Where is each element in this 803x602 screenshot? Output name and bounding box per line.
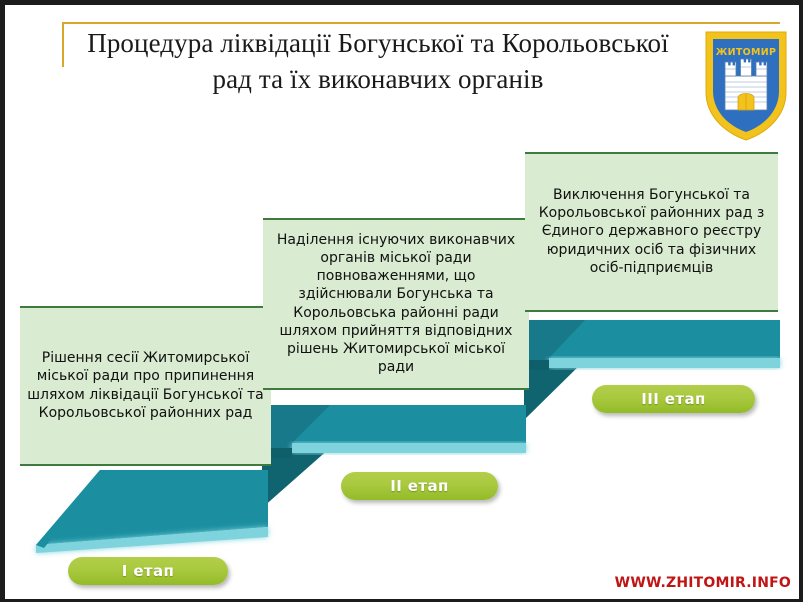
stage-badge-1[interactable]: I етап <box>68 557 228 585</box>
step-panel-2-text: Наділення існуючих виконавчих органів мі… <box>269 231 523 377</box>
step-panel-3: Виключення Богунської та Корольовської р… <box>525 152 778 312</box>
gold-rule-vertical <box>62 22 64 67</box>
frame-border-right <box>799 0 803 602</box>
zhytomyr-coat-of-arms-icon: ЖИТОМИР <box>700 26 792 144</box>
gold-rule-horizontal <box>62 22 780 24</box>
svg-text:ЖИТОМИР: ЖИТОМИР <box>716 47 777 58</box>
stage-badge-2[interactable]: II етап <box>341 472 498 500</box>
frame-border-left <box>0 0 5 602</box>
slide-canvas: Процедура ліквідації Богунської та Корол… <box>0 0 803 602</box>
stage-badge-1-label: I етап <box>122 562 175 580</box>
step-panel-3-text: Виключення Богунської та Корольовської р… <box>531 186 772 277</box>
step-panel-1-text: Рішення сесії Житомирської міської ради … <box>26 349 265 422</box>
page-title: Процедура ліквідації Богунської та Корол… <box>78 26 678 97</box>
step-panel-1: Рішення сесії Житомирської міської ради … <box>20 306 271 466</box>
stage-badge-3-label: III етап <box>641 390 706 408</box>
stage-badge-3[interactable]: III етап <box>592 385 755 413</box>
site-watermark: WWW.ZHITOMIR.INFO <box>615 575 791 591</box>
stage-badge-2-label: II етап <box>390 477 449 495</box>
frame-border-top <box>0 0 803 5</box>
step-panel-2: Наділення існуючих виконавчих органів мі… <box>263 218 529 390</box>
